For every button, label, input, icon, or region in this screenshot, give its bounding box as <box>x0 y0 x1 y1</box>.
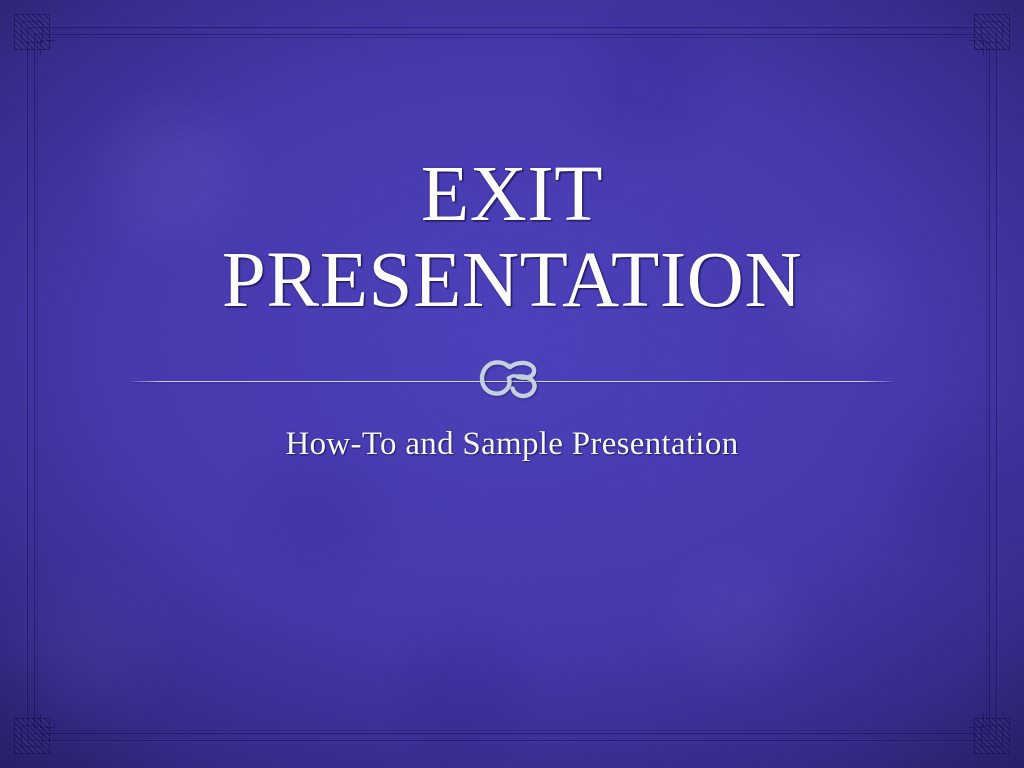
slide-title: EXIT PRESENTATION <box>150 152 874 324</box>
slide-subtitle: How-To and Sample Presentation <box>120 424 904 464</box>
cb-script-ornament-icon <box>457 355 567 403</box>
slide-content: EXIT PRESENTATION <box>0 0 1024 768</box>
title-divider <box>0 355 1024 403</box>
title-slide: EXIT PRESENTATION <box>0 0 1024 768</box>
